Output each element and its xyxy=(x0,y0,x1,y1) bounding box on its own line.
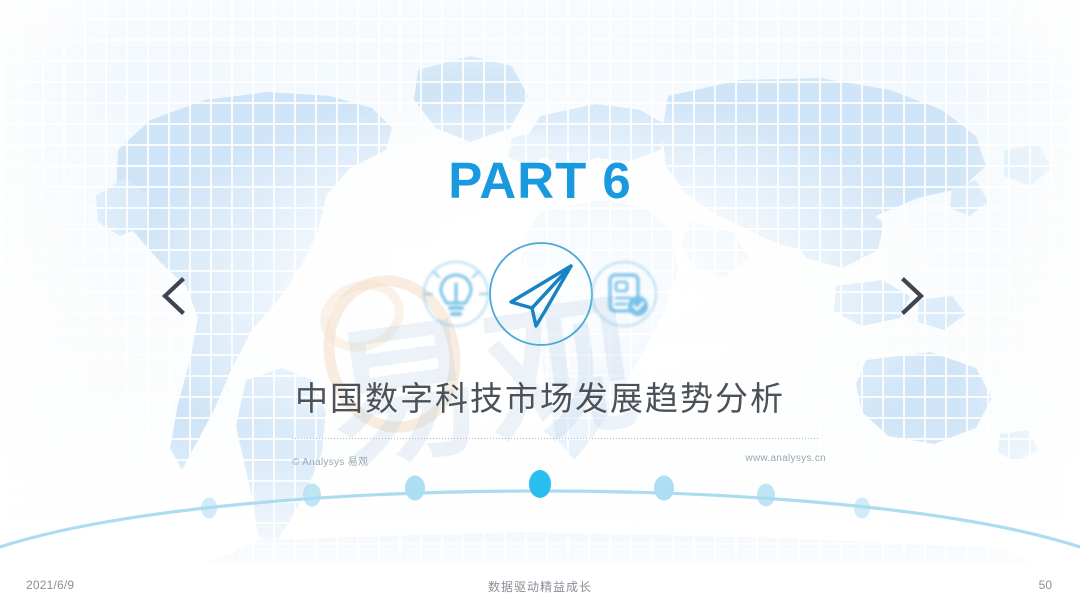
lightbulb-idea-icon xyxy=(420,258,492,330)
slide-footer: 2021/6/9 数据驱动精益成长 50 xyxy=(0,566,1080,608)
chevron-left-icon[interactable] xyxy=(152,272,196,320)
document-check-icon xyxy=(588,258,660,330)
slide-canvas: 易观 PART 6 xyxy=(0,0,1080,566)
dotted-divider xyxy=(292,438,820,439)
copyright-attribution: © Analysys 易观 xyxy=(292,453,368,468)
chevron-right-icon[interactable] xyxy=(890,272,934,320)
slide-headline: 中国数字科技市场发展趋势分析 xyxy=(0,372,1080,420)
footer-tagline: 数据驱动精益成长 xyxy=(0,578,1080,595)
presentation-slide: 易观 PART 6 xyxy=(0,0,1080,608)
part-label: PART 6 xyxy=(0,151,1080,210)
paper-plane-icon xyxy=(487,240,595,348)
website-url: www.analysys.cn xyxy=(745,453,826,464)
footer-page-number: 50 xyxy=(1039,578,1052,592)
